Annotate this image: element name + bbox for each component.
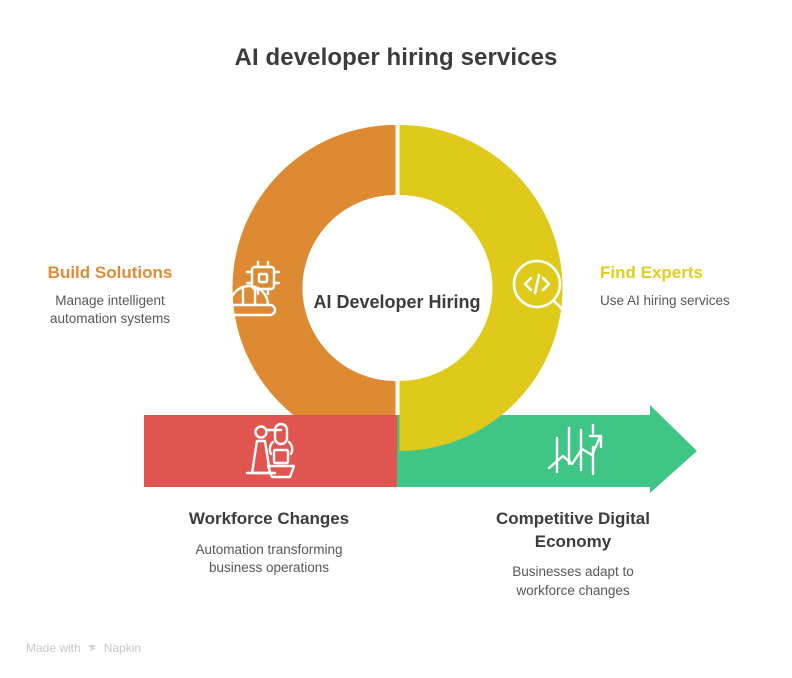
- donut-segment-find-experts: [400, 125, 563, 451]
- cycle-arrow-diagram: [0, 0, 792, 678]
- infographic-canvas: AI developer hiring services: [0, 0, 792, 678]
- segment-label-competitive-digital-economy: Competitive Digital Economy Businesses a…: [482, 508, 664, 600]
- competitive-digital-economy-heading: Competitive Digital Economy: [482, 508, 664, 553]
- segment-label-build-solutions: Build Solutions Manage intelligent autom…: [20, 262, 200, 329]
- donut-center-label: AI Developer Hiring: [297, 292, 497, 313]
- segment-label-find-experts: Find Experts Use AI hiring services: [600, 262, 780, 310]
- workforce-changes-heading: Workforce Changes: [178, 508, 360, 531]
- competitive-digital-economy-description: Businesses adapt to workforce changes: [482, 563, 664, 600]
- donut-yellow-group: [400, 125, 563, 451]
- workforce-changes-description: Automation transforming business operati…: [178, 541, 360, 578]
- napkin-logo-icon: [86, 642, 99, 655]
- find-experts-description: Use AI hiring services: [600, 292, 780, 310]
- find-experts-heading: Find Experts: [600, 262, 780, 283]
- segment-label-workforce-changes: Workforce Changes Automation transformin…: [178, 508, 360, 578]
- napkin-watermark: Made with Napkin: [26, 641, 141, 655]
- watermark-prefix: Made with: [26, 641, 81, 655]
- build-solutions-description: Manage intelligent automation systems: [20, 292, 200, 328]
- build-solutions-heading: Build Solutions: [20, 262, 200, 283]
- watermark-brand: Napkin: [104, 641, 141, 655]
